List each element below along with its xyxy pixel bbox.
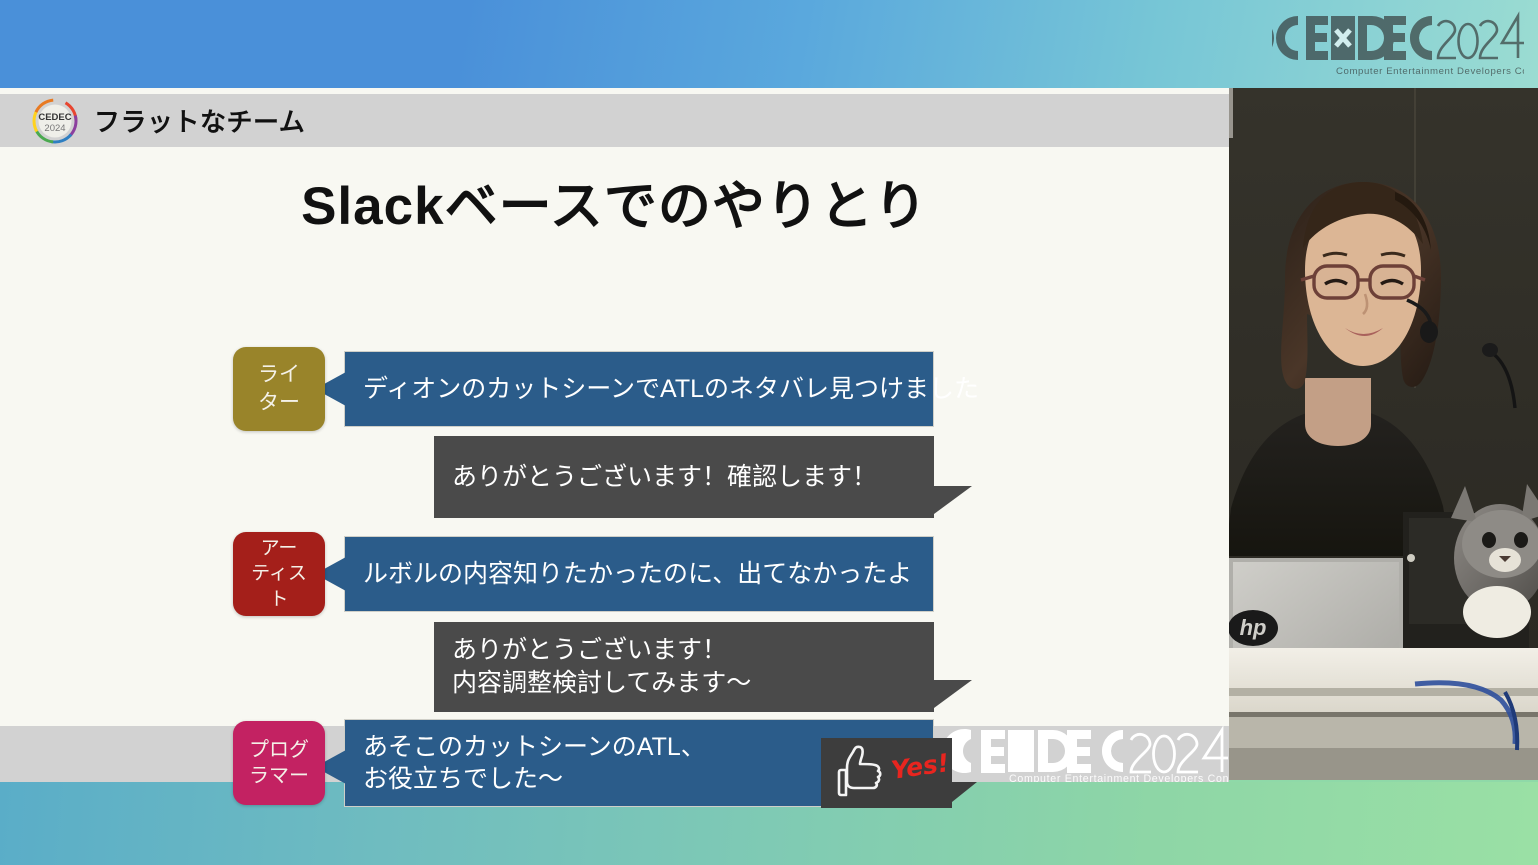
video-frame: hp bbox=[1229, 88, 1538, 780]
message-line: 内容調整検討してみます～ bbox=[452, 667, 916, 700]
role-label-line: アー bbox=[261, 536, 298, 561]
role-badge-writer: ライ ター bbox=[233, 347, 325, 431]
role-label-line: プログ bbox=[249, 737, 309, 763]
presentation-slide: CEDEC 2024 フラットなチーム Slackベースでのやりとり ライ ター… bbox=[0, 88, 1229, 782]
slide-header-bar: CEDEC 2024 フラットなチーム bbox=[0, 94, 1229, 147]
top-gradient-banner: Computer Entertainment Developers Confer… bbox=[0, 0, 1538, 88]
bubble-tail bbox=[934, 680, 972, 708]
role-label-line: ト bbox=[269, 587, 288, 612]
message-line: ありがとうございます！ bbox=[452, 634, 916, 667]
outgoing-message-1: ありがとうございます！確認します！ bbox=[434, 436, 934, 518]
cedec-2024-footer-logo: Computer Entertainment Developers Confer… bbox=[941, 722, 1229, 784]
cedec-badge-icon: CEDEC 2024 bbox=[32, 98, 78, 144]
bubble-tail bbox=[934, 486, 972, 514]
role-label-line: ティス bbox=[251, 561, 307, 586]
message-line: ルボルの内容知りたかったのに、出てなかったよ bbox=[363, 558, 915, 590]
incoming-message-2: ルボルの内容知りたかったのに、出てなかったよ bbox=[344, 536, 934, 612]
role-label-line: ター bbox=[258, 389, 300, 417]
message-line: ディオンのカットシーンでATLのネタバレ見つけました bbox=[363, 373, 915, 405]
hp-logo: hp bbox=[1229, 610, 1278, 646]
role-badge-programmer: プログ ラマー bbox=[233, 721, 325, 805]
cedec-2024-logo: Computer Entertainment Developers Confer… bbox=[1272, 8, 1524, 78]
thumbs-up-sticker: Yes! bbox=[821, 738, 952, 808]
thumbs-up-icon bbox=[833, 744, 887, 802]
sticker-text: Yes! bbox=[889, 748, 951, 785]
slide-section-title: フラットなチーム bbox=[94, 102, 305, 139]
role-badge-artist: アー ティス ト bbox=[233, 532, 325, 616]
badge-name: CEDEC bbox=[38, 112, 71, 123]
role-label-line: ラマー bbox=[249, 763, 309, 789]
badge-year: 2024 bbox=[44, 123, 65, 134]
laptop-brand-label: hp bbox=[1240, 615, 1267, 640]
slide-main-title: Slackベースでのやりとり bbox=[0, 164, 1229, 240]
sticker-tail bbox=[952, 782, 977, 802]
logo-tagline: Computer Entertainment Developers Confer… bbox=[1336, 66, 1524, 77]
role-label-line: ライ bbox=[258, 361, 300, 389]
cat-plush bbox=[1451, 484, 1538, 638]
outgoing-message-2: ありがとうございます！ 内容調整検討してみます～ bbox=[434, 622, 934, 712]
presenter-video-feed[interactable]: hp bbox=[1229, 88, 1538, 780]
message-line: ありがとうございます！確認します！ bbox=[452, 461, 916, 494]
incoming-message-1: ディオンのカットシーンでATLのネタバレ見つけました bbox=[344, 351, 934, 427]
